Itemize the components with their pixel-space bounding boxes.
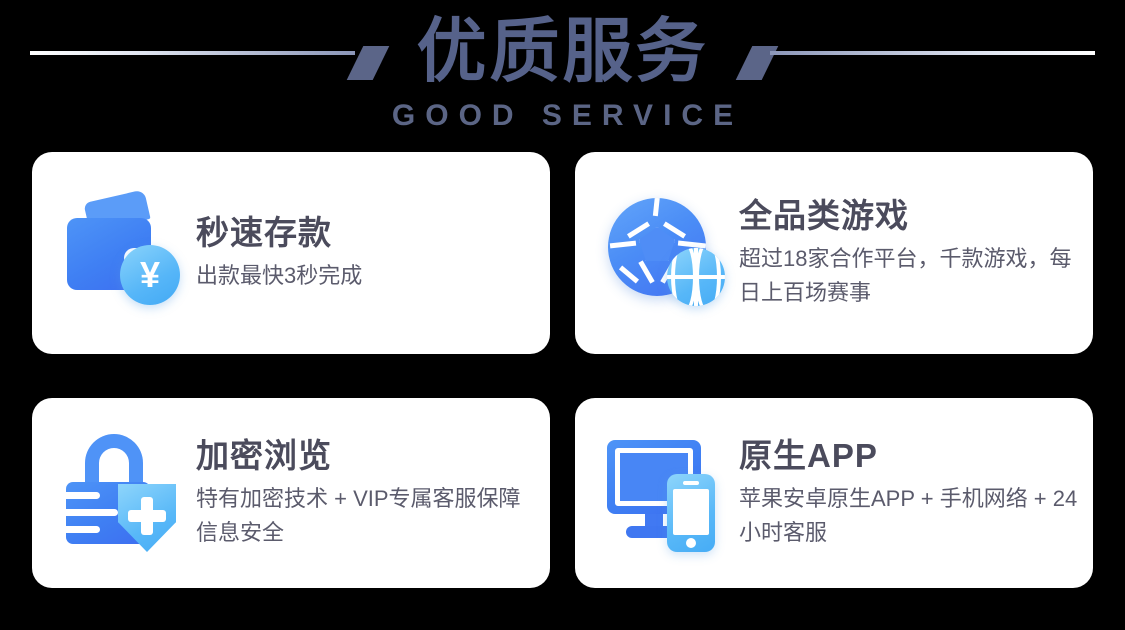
wallet-coin-icon: ¥ [62, 190, 188, 316]
card-subtitle: 超过18家合作平台，千款游戏，每日上百场赛事 [739, 242, 1079, 310]
soccer-seam [619, 266, 639, 284]
card-title: 加密浏览 [196, 436, 536, 476]
card-text-block: 全品类游戏 超过18家合作平台，千款游戏，每日上百场赛事 [739, 196, 1079, 310]
service-feature-banner: 优质服务 GOOD SERVICE ¥ 秒速存款 出款最快3秒完成 [0, 0, 1125, 630]
card-subtitle: 特有加密技术 + VIP专属客服保障信息安全 [196, 482, 536, 550]
soccer-seam [638, 260, 654, 283]
banner-header: 优质服务 GOOD SERVICE [0, 0, 1125, 146]
soccer-pentagon [639, 227, 675, 261]
feature-card-deposit[interactable]: ¥ 秒速存款 出款最快3秒完成 [32, 152, 550, 354]
feature-card-games[interactable]: 全品类游戏 超过18家合作平台，千款游戏，每日上百场赛事 [575, 152, 1093, 354]
card-title: 秒速存款 [196, 213, 362, 253]
phone-speaker [683, 481, 699, 485]
card-title: 原生APP [739, 436, 1079, 476]
phone-device [667, 474, 715, 552]
card-subtitle: 出款最快3秒完成 [196, 259, 362, 293]
basketball-arc [695, 248, 721, 306]
cross-icon [141, 497, 153, 535]
phone-screen [673, 489, 709, 535]
soccer-seam [653, 198, 660, 216]
lock-dash [66, 509, 118, 516]
card-text-block: 加密浏览 特有加密技术 + VIP专属客服保障信息安全 [196, 436, 536, 550]
lock-shield-icon [62, 430, 188, 556]
monitor-phone-icon [605, 430, 731, 556]
card-subtitle: 苹果安卓原生APP + 手机网络 + 24小时客服 [739, 482, 1079, 550]
page-title: 优质服务 [0, 12, 1125, 90]
card-text-block: 秒速存款 出款最快3秒完成 [196, 213, 362, 293]
phone-home-button [686, 538, 696, 548]
basketball-arc [671, 248, 697, 306]
soccer-basketball-icon [605, 190, 731, 316]
feature-card-encryption[interactable]: 加密浏览 特有加密技术 + VIP专属客服保障信息安全 [32, 398, 550, 588]
soccer-seam [610, 241, 636, 249]
page-subtitle: GOOD SERVICE [0, 99, 1125, 133]
coin-badge: ¥ [120, 245, 180, 305]
lock-dash [66, 526, 100, 533]
card-title: 全品类游戏 [739, 196, 1079, 236]
feature-card-native-app[interactable]: 原生APP 苹果安卓原生APP + 手机网络 + 24小时客服 [575, 398, 1093, 588]
card-text-block: 原生APP 苹果安卓原生APP + 手机网络 + 24小时客服 [739, 436, 1079, 550]
yen-symbol: ¥ [120, 245, 180, 305]
feature-card-grid: ¥ 秒速存款 出款最快3秒完成 [32, 152, 1093, 588]
basketball [667, 248, 725, 306]
lock-dash [66, 492, 100, 499]
